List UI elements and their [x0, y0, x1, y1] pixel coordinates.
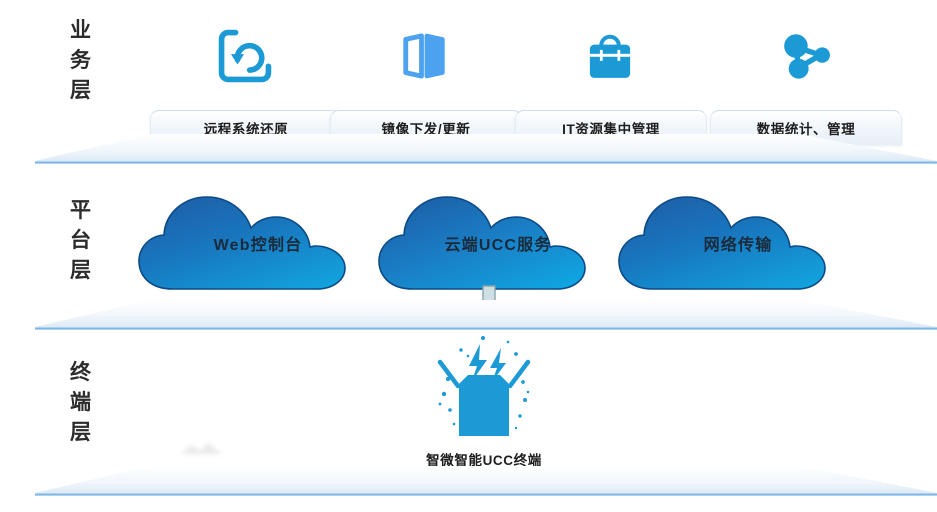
layer-label-char: 务 [58, 46, 104, 76]
business-item-data-stats[interactable]: 数据统计、管理 [710, 10, 900, 150]
layer-label-char: 台 [58, 226, 104, 256]
layer-label-char: 平 [58, 196, 104, 226]
layer-label-char: 终 [58, 358, 104, 388]
image-deploy-icon [379, 10, 471, 102]
layer-divider-business-platform [0, 134, 937, 168]
business-item-system-restore[interactable]: 远程系统还原 [150, 10, 340, 150]
ucc-terminal-box-icon [428, 334, 540, 446]
platform-cloud-network[interactable]: 网络传输 [613, 185, 863, 297]
layer-label-business: 业 务 层 [58, 16, 104, 105]
layer-divider-platform-terminal [0, 300, 937, 334]
layer-label-char: 端 [58, 388, 104, 418]
system-restore-icon [199, 10, 291, 102]
architecture-diagram: 业 务 层 远程系统还原 镜像下 [0, 0, 937, 512]
platform-cloud-web-console[interactable]: Web控制台 [133, 185, 383, 297]
layer-label-char: 层 [58, 76, 104, 106]
layer-divider-bottom [0, 466, 937, 500]
business-item-it-resource[interactable]: IT资源集中管理 [515, 10, 705, 150]
layer-label-char: 层 [58, 256, 104, 286]
watermark-artifact [174, 437, 232, 459]
briefcase-icon [564, 10, 656, 102]
layer-label-char: 层 [58, 418, 104, 448]
layer-label-terminal: 终 端 层 [58, 358, 104, 447]
layer-label-char: 业 [58, 16, 104, 46]
platform-cloud-ucc-service[interactable]: 云端UCC服务 [373, 185, 623, 297]
layer-label-platform: 平 台 层 [58, 196, 104, 285]
business-item-image-deploy[interactable]: 镜像下发/更新 [330, 10, 520, 150]
network-nodes-icon [759, 10, 851, 102]
